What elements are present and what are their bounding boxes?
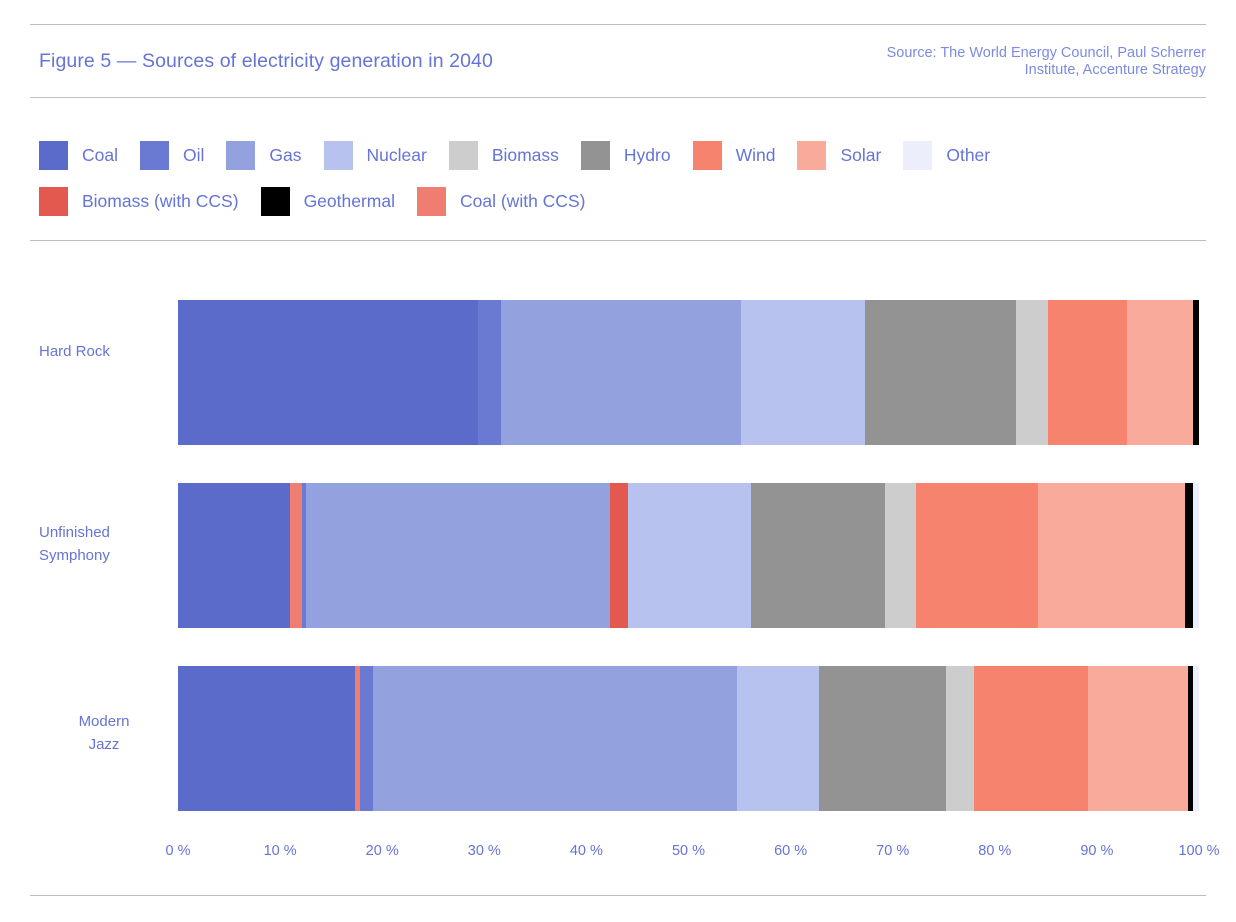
bar-segment[interactable]	[865, 300, 1016, 445]
legend-item[interactable]: Solar	[797, 141, 881, 170]
legend-item-label: Other	[946, 145, 990, 166]
divider-under-title	[30, 97, 1206, 98]
legend-swatch-icon	[140, 141, 169, 170]
bar-segment[interactable]	[178, 483, 290, 628]
bar-segment[interactable]	[885, 483, 916, 628]
bar-segment[interactable]	[178, 300, 478, 445]
divider-under-legend	[30, 240, 1206, 241]
x-axis-tick-label: 80 %	[978, 843, 1011, 859]
bar-segment[interactable]	[610, 483, 628, 628]
x-axis-tick-label: 100 %	[1178, 843, 1219, 859]
bar-segment[interactable]	[1193, 483, 1199, 628]
figure-container: Figure 5 — Sources of electricity genera…	[30, 0, 1206, 922]
chart-plot-area: 0 %10 %20 %30 %40 %50 %60 %70 %80 %90 %1…	[30, 278, 1206, 878]
legend-row-1: CoalOilGasNuclearBiomassHydroWindSolarOt…	[39, 132, 1209, 178]
legend-swatch-icon	[903, 141, 932, 170]
legend-swatch-icon	[417, 187, 446, 216]
bar-row: ModernJazz	[30, 666, 1206, 811]
legend-swatch-icon	[39, 141, 68, 170]
bar-row-label-line: Jazz	[39, 733, 169, 756]
bar-segment[interactable]	[1048, 300, 1128, 445]
bar-segment[interactable]	[916, 483, 1038, 628]
legend-item[interactable]: Nuclear	[324, 141, 427, 170]
legend-item[interactable]: Hydro	[581, 141, 671, 170]
bar-segment[interactable]	[974, 666, 1087, 811]
legend-swatch-icon	[324, 141, 353, 170]
legend-item[interactable]: Biomass (with CCS)	[39, 187, 239, 216]
legend-item-label: Biomass (with CCS)	[82, 191, 239, 212]
bar-segment[interactable]	[737, 666, 819, 811]
bar-segment[interactable]	[1088, 666, 1188, 811]
bar-segment[interactable]	[628, 483, 750, 628]
stacked-bar-track	[178, 483, 1199, 628]
bar-row: UnfinishedSymphony	[30, 483, 1206, 628]
bar-segment[interactable]	[1038, 483, 1185, 628]
bar-row-label: UnfinishedSymphony	[39, 521, 169, 567]
figure-source: Source: The World Energy Council, Paul S…	[876, 45, 1206, 79]
legend-item-label: Hydro	[624, 145, 671, 166]
bar-segment[interactable]	[290, 483, 302, 628]
legend-item[interactable]: Other	[903, 141, 990, 170]
bar-row-label-line: Hard Rock	[39, 340, 169, 363]
x-axis-tick-label: 0 %	[166, 843, 191, 859]
bar-row-label: ModernJazz	[39, 710, 169, 756]
legend-item[interactable]: Wind	[693, 141, 776, 170]
legend-item[interactable]: Coal	[39, 141, 118, 170]
bar-segment[interactable]	[501, 300, 741, 445]
bar-segment[interactable]	[360, 666, 373, 811]
title-row: Figure 5 — Sources of electricity genera…	[30, 38, 1206, 94]
legend-swatch-icon	[261, 187, 290, 216]
chart-legend: CoalOilGasNuclearBiomassHydroWindSolarOt…	[39, 132, 1209, 224]
legend-swatch-icon	[449, 141, 478, 170]
legend-item-label: Biomass	[492, 145, 559, 166]
bar-row-label-line: Symphony	[39, 544, 169, 567]
stacked-bar-track	[178, 300, 1199, 445]
bar-segment[interactable]	[1127, 300, 1192, 445]
x-axis-tick-label: 90 %	[1080, 843, 1113, 859]
legend-item[interactable]: Biomass	[449, 141, 559, 170]
legend-swatch-icon	[693, 141, 722, 170]
divider-bottom	[30, 895, 1206, 896]
legend-item-label: Oil	[183, 145, 204, 166]
x-axis-tick-label: 20 %	[366, 843, 399, 859]
legend-swatch-icon	[797, 141, 826, 170]
bar-segment[interactable]	[178, 666, 355, 811]
legend-item-label: Geothermal	[304, 191, 395, 212]
legend-item-label: Coal (with CCS)	[460, 191, 585, 212]
bar-row-label: Hard Rock	[39, 340, 169, 363]
bar-segment[interactable]	[1193, 666, 1199, 811]
bar-segment[interactable]	[819, 666, 946, 811]
x-axis-tick-label: 10 %	[264, 843, 297, 859]
legend-item-label: Wind	[736, 145, 776, 166]
legend-item[interactable]: Oil	[140, 141, 204, 170]
legend-item-label: Nuclear	[367, 145, 427, 166]
legend-row-2: Biomass (with CCS)GeothermalCoal (with C…	[39, 178, 1209, 224]
legend-item[interactable]: Gas	[226, 141, 301, 170]
divider-top	[30, 24, 1206, 25]
legend-item[interactable]: Coal (with CCS)	[417, 187, 585, 216]
bar-segment[interactable]	[1185, 483, 1193, 628]
bar-segment[interactable]	[1016, 300, 1048, 445]
x-axis: 0 %10 %20 %30 %40 %50 %60 %70 %80 %90 %1…	[178, 843, 1199, 867]
bar-row: Hard Rock	[30, 300, 1206, 445]
bar-row-label-line: Modern	[39, 710, 169, 733]
legend-item-label: Solar	[840, 145, 881, 166]
bar-segment[interactable]	[373, 666, 737, 811]
legend-swatch-icon	[226, 141, 255, 170]
legend-item-label: Gas	[269, 145, 301, 166]
bar-segment[interactable]	[478, 300, 500, 445]
figure-title: Figure 5 — Sources of electricity genera…	[39, 50, 493, 73]
x-axis-tick-label: 40 %	[570, 843, 603, 859]
bar-row-label-line: Unfinished	[39, 521, 169, 544]
bar-segment[interactable]	[306, 483, 610, 628]
legend-item-label: Coal	[82, 145, 118, 166]
bar-segment[interactable]	[751, 483, 886, 628]
legend-swatch-icon	[581, 141, 610, 170]
legend-swatch-icon	[39, 187, 68, 216]
x-axis-tick-label: 30 %	[468, 843, 501, 859]
x-axis-tick-label: 50 %	[672, 843, 705, 859]
bar-segment[interactable]	[946, 666, 975, 811]
bar-segment[interactable]	[1193, 300, 1199, 445]
stacked-bar-track	[178, 666, 1199, 811]
legend-item[interactable]: Geothermal	[261, 187, 395, 216]
x-axis-tick-label: 70 %	[876, 843, 909, 859]
bar-segment[interactable]	[741, 300, 866, 445]
x-axis-tick-label: 60 %	[774, 843, 807, 859]
